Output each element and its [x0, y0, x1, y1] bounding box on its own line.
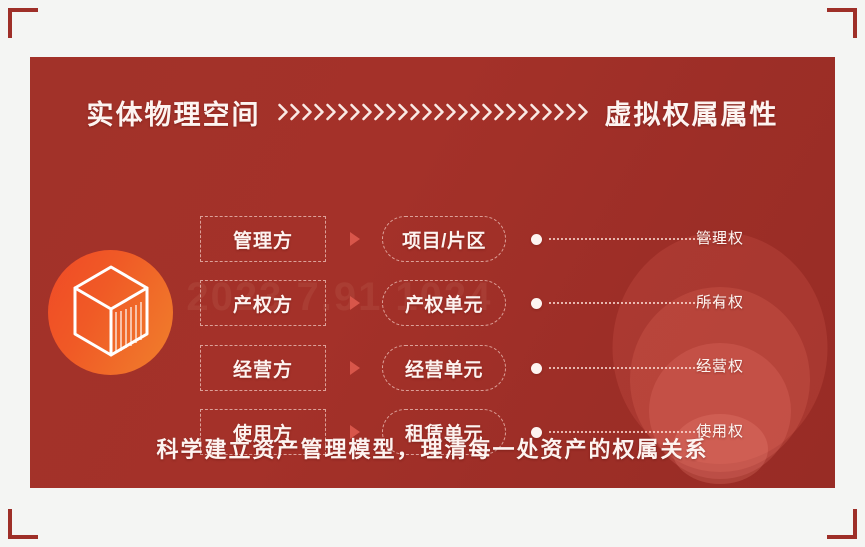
unit-label: 经营单元 — [405, 355, 483, 382]
leader-line — [549, 367, 723, 369]
party-label: 经营方 — [233, 355, 293, 382]
corner-bracket-top-right — [827, 8, 857, 38]
bullet-dot-icon — [531, 298, 542, 309]
triangle-right-icon — [350, 232, 360, 246]
screenshot-canvas: com 2023 7.91 1024 实体物理空间 虚拟权属属性 — [0, 0, 865, 547]
diagram-area: 管理权 所有权 经营权 使用权 管理方 项目/片区 产权方 — [30, 152, 835, 442]
corner-bracket-bottom-right — [827, 509, 857, 539]
unit-pill[interactable]: 经营单元 — [382, 345, 506, 391]
unit-pill[interactable]: 产权单元 — [382, 280, 506, 326]
header-left-title: 实体物理空间 — [87, 93, 261, 132]
mapping-row: 管理方 项目/片区 — [200, 216, 835, 262]
mapping-row: 经营方 经营单元 — [200, 345, 835, 391]
header-right-title: 虚拟权属属性 — [605, 93, 779, 132]
header: 实体物理空间 虚拟权属属性 — [30, 83, 835, 141]
infographic-panel: com 2023 7.91 1024 实体物理空间 虚拟权属属性 — [30, 57, 835, 488]
triangle-right-icon — [350, 361, 360, 375]
party-box[interactable]: 产权方 — [200, 280, 326, 326]
building-3d-icon — [70, 262, 152, 363]
building-badge — [48, 250, 173, 375]
leader-line — [549, 302, 723, 304]
chevron-arrow-strip — [277, 97, 589, 127]
footer-caption: 科学建立资产管理模型，理清每一处资产的权属关系 — [156, 437, 708, 462]
party-label: 产权方 — [233, 290, 293, 317]
corner-bracket-bottom-left — [8, 509, 38, 539]
unit-label: 产权单元 — [405, 290, 483, 317]
party-box[interactable]: 管理方 — [200, 216, 326, 262]
party-label: 管理方 — [233, 226, 293, 253]
bullet-dot-icon — [531, 363, 542, 374]
unit-label: 项目/片区 — [402, 226, 486, 253]
unit-pill[interactable]: 项目/片区 — [382, 216, 506, 262]
party-box[interactable]: 经营方 — [200, 345, 326, 391]
triangle-right-icon — [350, 296, 360, 310]
corner-bracket-top-left — [8, 8, 38, 38]
footer: 科学建立资产管理模型，理清每一处资产的权属关系 — [30, 432, 835, 464]
leader-line — [549, 238, 723, 240]
mapping-row: 产权方 产权单元 — [200, 280, 835, 326]
chevron-right-icon — [577, 103, 590, 121]
bullet-dot-icon — [531, 234, 542, 245]
